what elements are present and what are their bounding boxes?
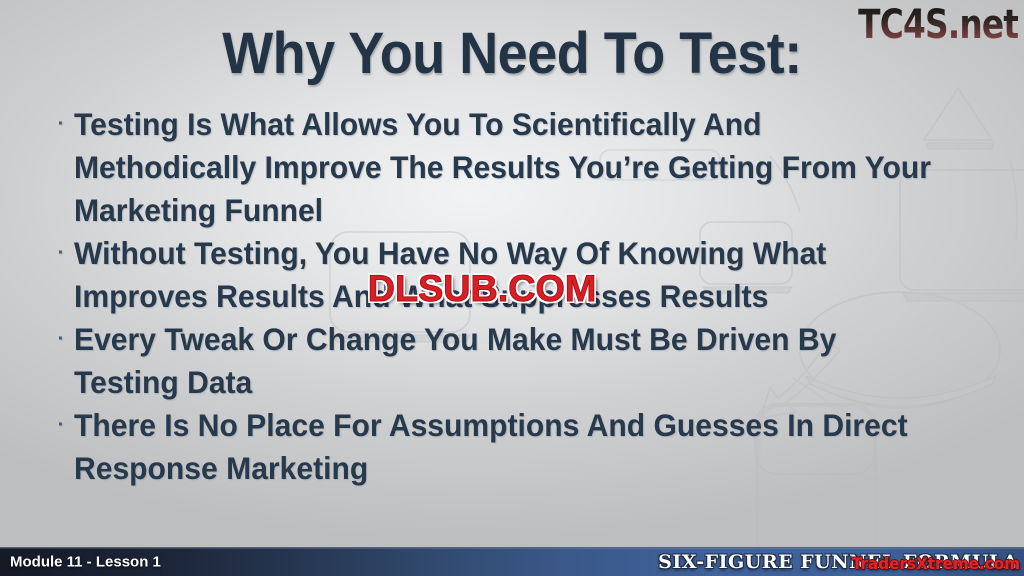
watermark-dlsub: DLSUB.COM: [368, 268, 597, 310]
watermark-tradersxtreme: TradersXtreme.com: [852, 554, 1020, 573]
bullet-text: Every Tweak Or Change You Make Must Be D…: [74, 318, 937, 404]
module-lesson-label: Module 11 - Lesson 1: [10, 554, 161, 571]
bullet-dot-icon: ·: [48, 318, 74, 361]
watermark-tc4s: TC4S.net: [858, 2, 1018, 48]
bullet-dot-icon: ·: [48, 404, 74, 447]
bullet-dot-icon: ·: [48, 232, 74, 275]
list-item: · Testing Is What Allows You To Scientif…: [48, 103, 978, 232]
list-item: · There Is No Place For Assumptions And …: [48, 404, 978, 490]
slide-title: Why You Need To Test:: [36, 20, 988, 87]
bullet-text: There Is No Place For Assumptions And Gu…: [74, 404, 937, 490]
list-item: · Every Tweak Or Change You Make Must Be…: [48, 318, 978, 404]
slide-footer: Module 11 - Lesson 1 SIX-FIGURE FUNNEL F…: [0, 547, 1024, 576]
bullet-dot-icon: ·: [48, 103, 74, 146]
bullet-text: Testing Is What Allows You To Scientific…: [74, 103, 937, 232]
presentation-slide: Why You Need To Test: · Testing Is What …: [0, 0, 1024, 576]
